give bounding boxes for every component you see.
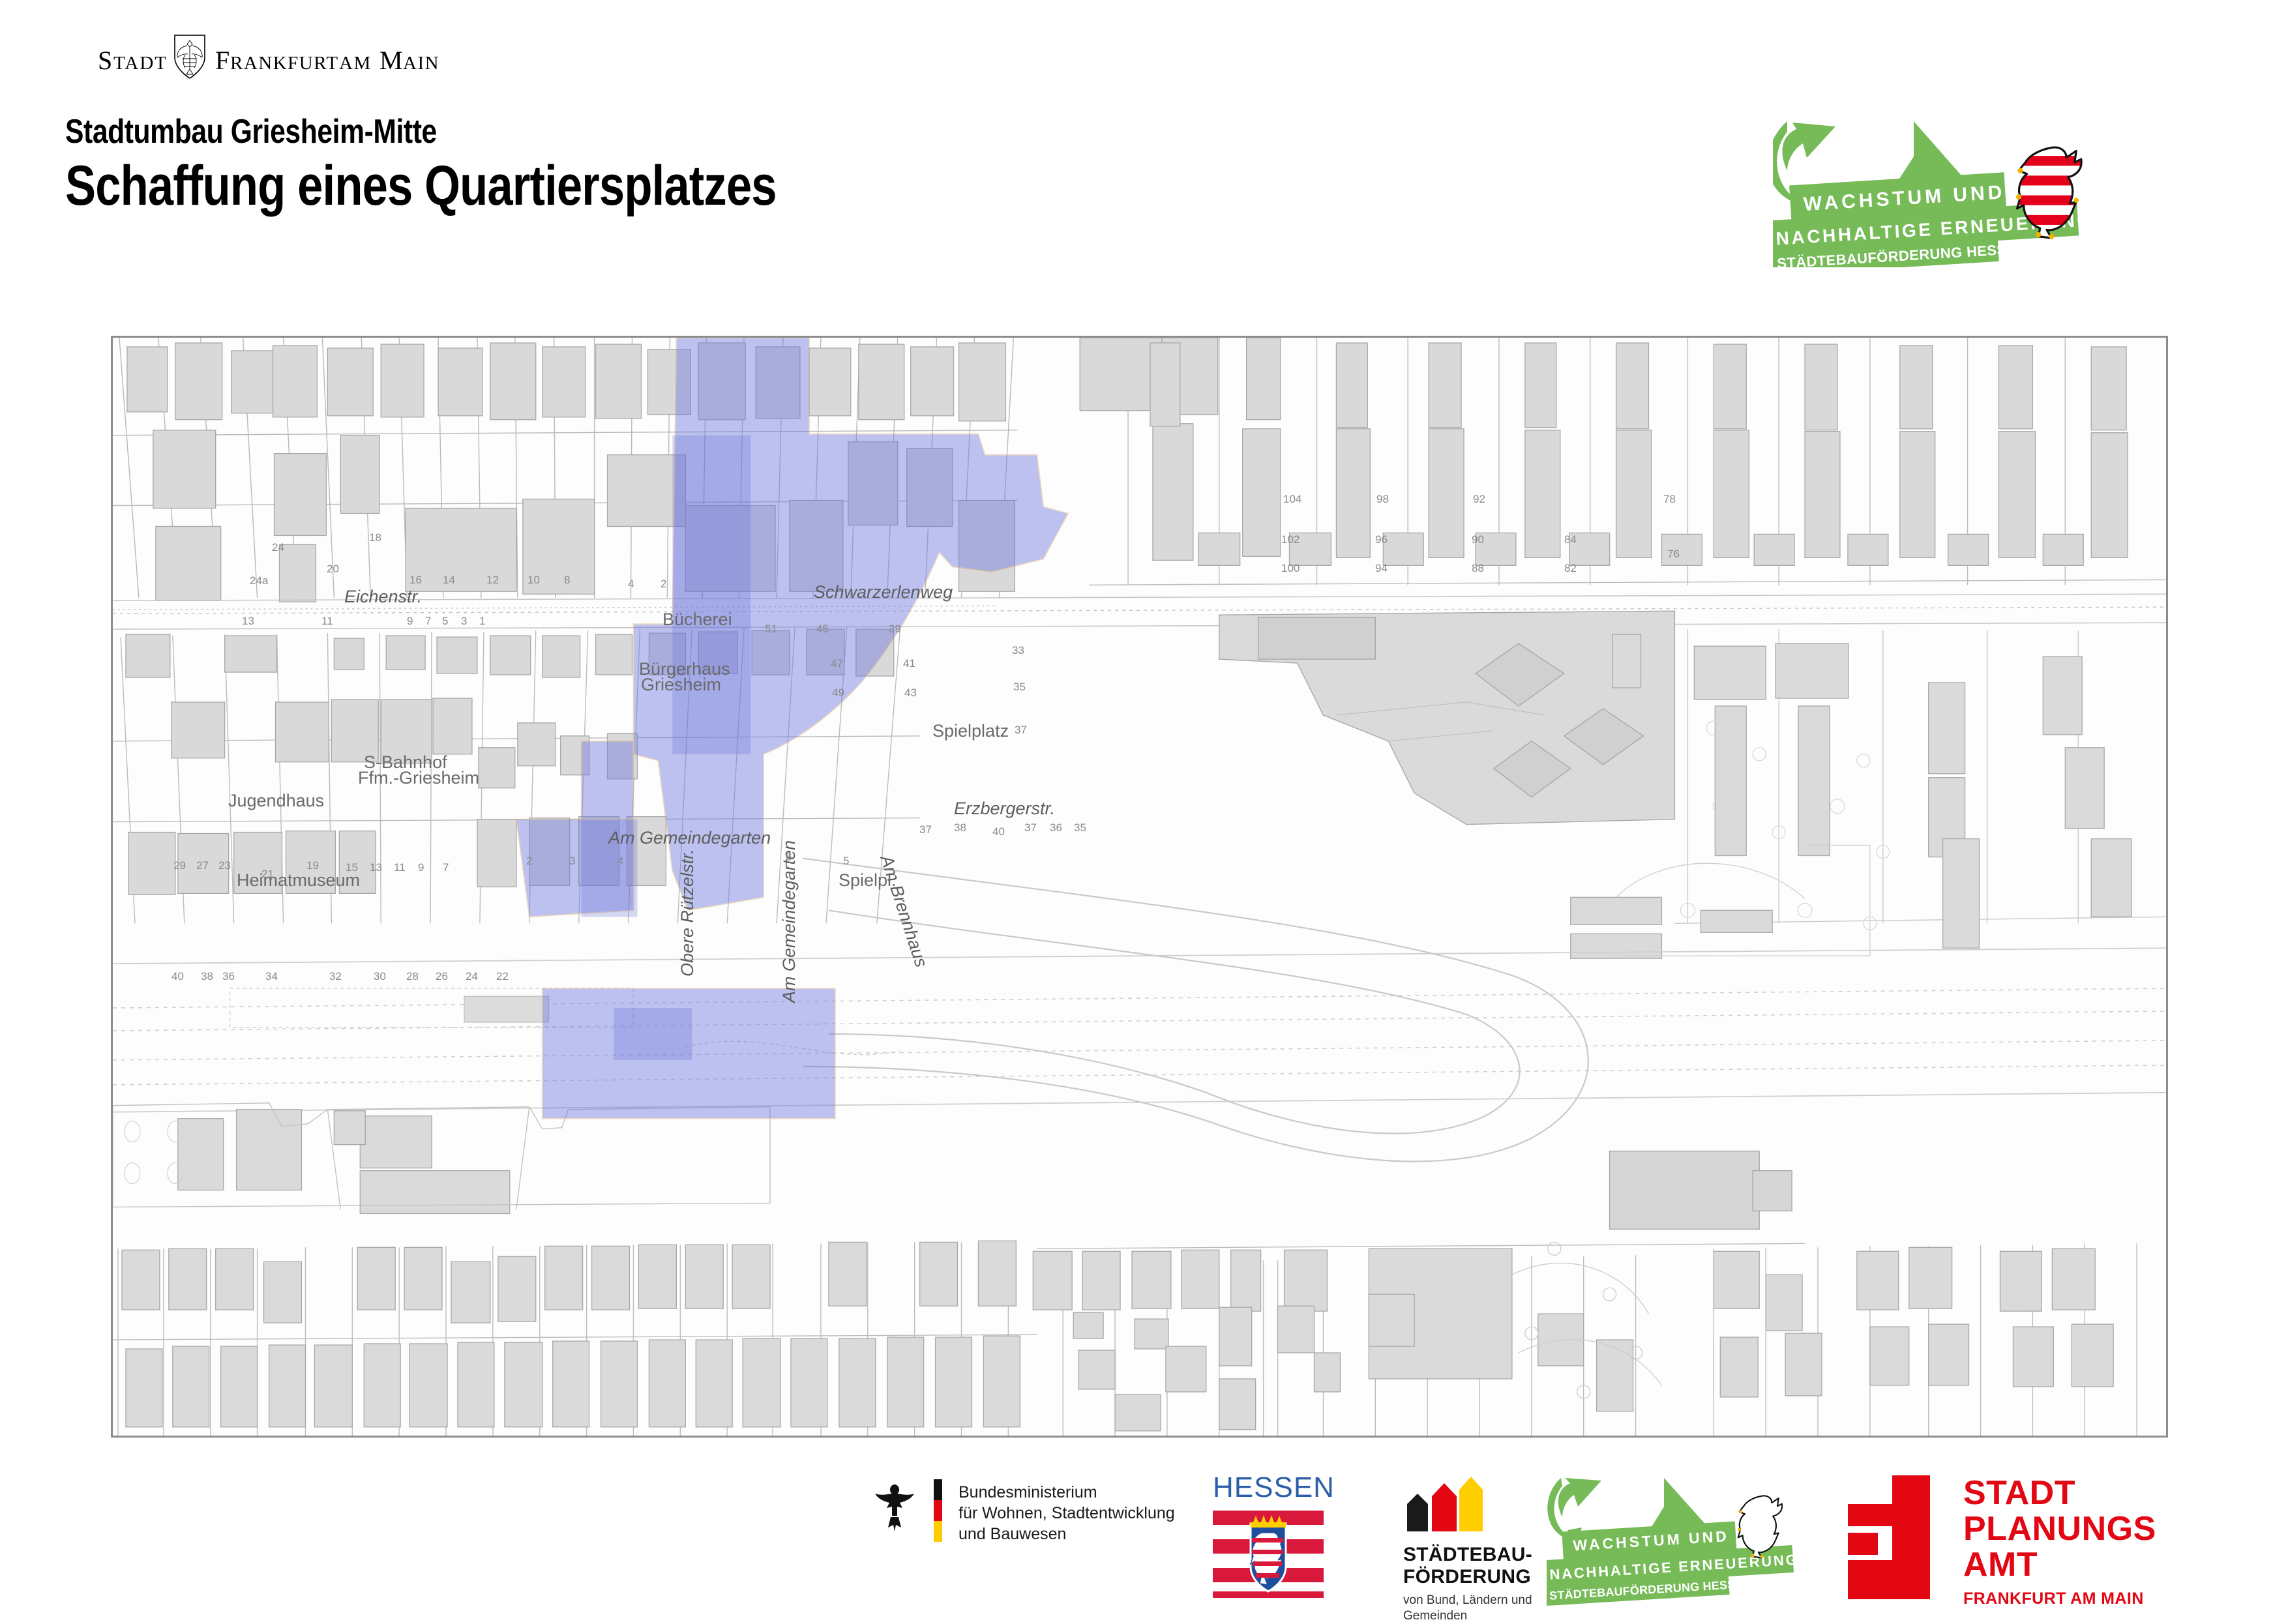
- house-number: 104: [1283, 493, 1301, 506]
- house-number: 24: [466, 970, 478, 983]
- house-number: 33: [1012, 644, 1024, 657]
- house-number: 12: [486, 574, 499, 587]
- house-number: 45: [816, 623, 829, 636]
- federal-eagle-icon: [869, 1478, 921, 1537]
- house-number: 92: [1473, 493, 1485, 506]
- street-label-am-gemeindegarten: Am Gemeindegarten: [608, 828, 771, 848]
- svg-text:S: S: [98, 46, 113, 75]
- svg-text:M: M: [379, 46, 403, 75]
- house-number: 7: [425, 615, 431, 628]
- page-title: Schaffung eines Quartiersplatzes: [65, 156, 1081, 215]
- house-number: 84: [1564, 533, 1577, 546]
- staedtebau-sub1: von Bund, Ländern und: [1403, 1593, 1532, 1608]
- house-number: 2: [526, 855, 532, 868]
- house-number: 23: [218, 859, 231, 872]
- poi-label-spielpl: Spielpl.: [839, 870, 897, 891]
- map-drawing: [113, 338, 2166, 1438]
- poi-label-heimatmuseum: Heimatmuseum: [237, 870, 360, 891]
- title-block: Stadtumbau Griesheim-Mitte Schaffung ein…: [65, 114, 1304, 215]
- house-number: 4: [617, 855, 623, 868]
- house-number: 43: [904, 687, 917, 700]
- house-number: 96: [1375, 533, 1388, 546]
- house-number: 40: [171, 970, 184, 983]
- svg-text:AM: AM: [339, 53, 372, 74]
- spa-line3: AMT: [1963, 1547, 2156, 1583]
- house-number: 37: [1015, 724, 1027, 737]
- house-number: 40: [992, 825, 1005, 838]
- house-number: 34: [265, 970, 278, 983]
- bmwsb-text: Bundesministerium für Wohnen, Stadtentwi…: [958, 1482, 1175, 1544]
- house-number: 20: [327, 563, 339, 576]
- house-number: 37: [1024, 821, 1037, 834]
- house-number: 36: [222, 970, 235, 983]
- house-number: 1: [479, 615, 485, 628]
- house-number: 98: [1376, 493, 1389, 506]
- house-number: 100: [1281, 562, 1300, 575]
- svg-text:TADT: TADT: [113, 53, 168, 74]
- house-number: 3: [461, 615, 467, 628]
- street-label-erzbergerstr: Erzbergerstr.: [954, 799, 1055, 819]
- funding-logos-footer: Bundesministerium für Wohnen, Stadtentwi…: [0, 1464, 2288, 1617]
- bmwsb-line2: für Wohnen, Stadtentwicklung: [958, 1503, 1175, 1524]
- bmwsb-logo: [869, 1478, 921, 1540]
- house-number: 16: [409, 574, 422, 587]
- house-number: 27: [196, 859, 209, 872]
- svg-text:RANKFURT: RANKFURT: [230, 53, 339, 74]
- svg-text:F: F: [215, 46, 230, 75]
- poi-label-buecherei: Bücherei: [662, 610, 732, 630]
- svg-text:AIN: AIN: [403, 53, 439, 74]
- house-number: 39: [889, 623, 901, 636]
- poi-label-spielplatz: Spielplatz: [932, 721, 1009, 741]
- house-number: 102: [1281, 533, 1300, 546]
- house-number: 29: [173, 859, 186, 872]
- poi-label-jugendhaus: Jugendhaus: [228, 791, 324, 811]
- house-number: 13: [242, 615, 254, 628]
- house-number: 38: [201, 970, 213, 983]
- stadtplanungsamt-logo: STADT PLANUNGS AMT FRANKFURT AM MAIN: [1845, 1475, 2156, 1608]
- house-number: 47: [831, 657, 843, 670]
- poi-label-griesheim: Griesheim: [641, 675, 721, 695]
- cadastral-map[interactable]: Eichenstr. Schwarzerlenweg Erzbergerstr.…: [111, 336, 2168, 1438]
- street-label-obere-ruetzelstr: Obere Rützelstr.: [677, 849, 698, 977]
- house-number: 11: [321, 615, 333, 628]
- house-number: 41: [903, 657, 915, 670]
- programme-logo-header: WACHSTUM UND NACHHALTIGE ERNEUERUNG STÄD…: [1773, 117, 2216, 248]
- staedtebau-sub2: Gemeinden: [1403, 1608, 1532, 1624]
- house-number: 2: [661, 578, 666, 591]
- house-number: 18: [369, 531, 381, 544]
- german-flag-bar: [934, 1479, 942, 1542]
- house-number: 90: [1472, 533, 1484, 546]
- house-number: 14: [443, 574, 455, 587]
- house-number: 7: [443, 861, 449, 874]
- house-number: 35: [1074, 821, 1086, 834]
- house-number: 76: [1667, 548, 1680, 561]
- spa-line2: PLANUNGS: [1963, 1511, 2156, 1547]
- programme-logo-footer: WACHSTUM UND NACHHALTIGE ERNEUERUNG STÄD…: [1547, 1473, 1820, 1613]
- house-number: 24: [272, 541, 284, 554]
- house-number: 13: [370, 861, 382, 874]
- house-number: 5: [442, 615, 448, 628]
- street-label-schwarzerlenweg: Schwarzerlenweg: [814, 582, 953, 602]
- house-number: 35: [1013, 681, 1026, 694]
- house-number: 15: [346, 861, 358, 874]
- house-number: 19: [306, 859, 319, 872]
- staedtebau-line2: FÖRDERUNG: [1403, 1566, 1532, 1588]
- house-number: 28: [406, 970, 419, 983]
- house-number: 94: [1375, 562, 1388, 575]
- house-number: 21: [261, 868, 274, 881]
- house-number: 24a: [250, 574, 268, 587]
- house-number: 38: [954, 821, 966, 834]
- bmwsb-line3: und Bauwesen: [958, 1524, 1175, 1544]
- hessen-logo: HESSEN: [1213, 1471, 1335, 1601]
- house-number: 49: [832, 687, 844, 700]
- house-number: 10: [527, 574, 540, 587]
- hessen-coat-of-arms-icon: [1213, 1507, 1324, 1598]
- house-number: 37: [919, 823, 932, 836]
- house-number: 26: [436, 970, 448, 983]
- street-label-eichenstr: Eichenstr.: [344, 587, 422, 607]
- hessen-label: HESSEN: [1213, 1471, 1335, 1504]
- spa-sub: FRANKFURT AM MAIN: [1963, 1589, 2156, 1608]
- house-number: 8: [564, 574, 570, 587]
- house-number: 88: [1472, 562, 1484, 575]
- house-number: 11: [394, 861, 406, 874]
- house-number: 36: [1050, 821, 1062, 834]
- house-number: 9: [418, 861, 424, 874]
- page-subtitle: Stadtumbau Griesheim-Mitte: [65, 114, 1081, 150]
- bmwsb-line1: Bundesministerium: [958, 1482, 1175, 1503]
- house-number: 6: [786, 851, 792, 864]
- staedtebau-line1: STÄDTEBAU-: [1403, 1544, 1532, 1566]
- house-number: 30: [374, 970, 386, 983]
- house-number: 78: [1663, 493, 1676, 506]
- house-number: 32: [329, 970, 342, 983]
- staedtebaufoerderung-logo: STÄDTEBAU- FÖRDERUNG von Bund, Ländern u…: [1403, 1474, 1532, 1624]
- stadtplanungsamt-mark-icon: [1845, 1475, 1940, 1599]
- street-label-am-gemeindegarten-2: Am Gemeindegarten: [779, 840, 799, 1003]
- spa-line1: STADT: [1963, 1475, 2156, 1511]
- frankfurt-wordmark-icon: S TADT F RANKFURT AM M AIN: [98, 31, 515, 83]
- house-number: 9: [407, 615, 413, 628]
- house-number: 4: [628, 578, 634, 591]
- city-of-frankfurt-logo: S TADT F RANKFURT AM M AIN: [98, 31, 515, 83]
- poi-label-ffm-griesheim: Ffm.-Griesheim: [358, 768, 479, 788]
- house-number: 82: [1564, 562, 1577, 575]
- house-number: 22: [496, 970, 509, 983]
- house-number: 3: [569, 855, 575, 868]
- house-number: 5: [843, 855, 849, 868]
- three-houses-icon: [1403, 1474, 1485, 1531]
- house-number: 51: [765, 623, 777, 636]
